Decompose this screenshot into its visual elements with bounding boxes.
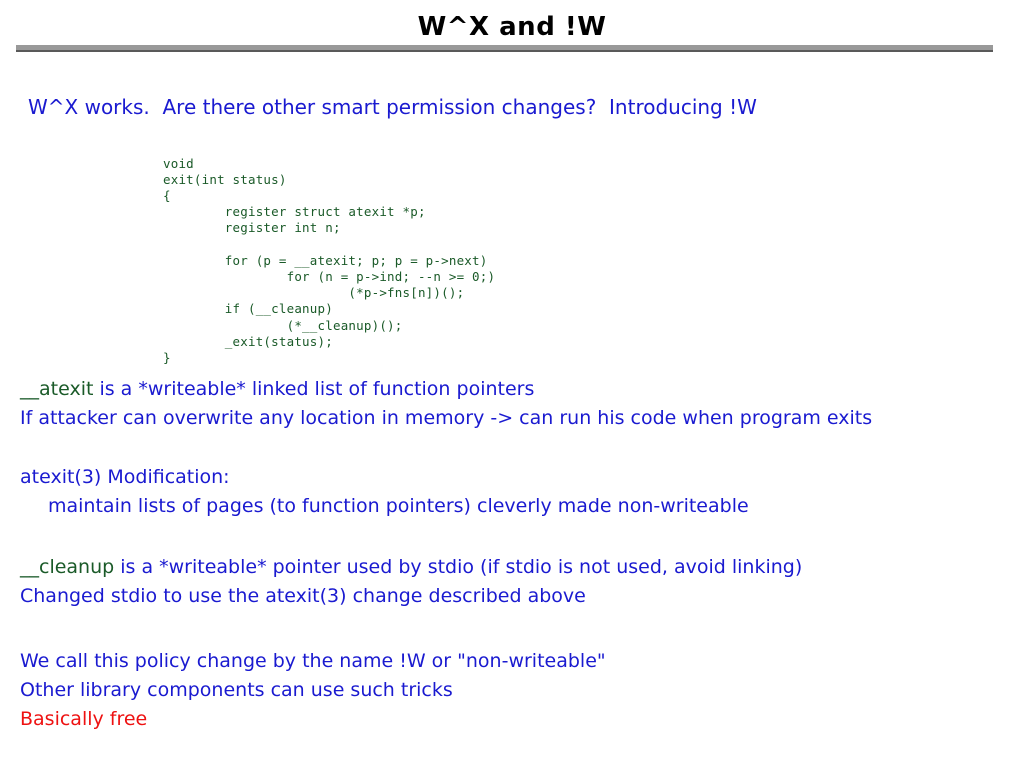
changed-stdio-line-segment-0: Changed stdio to use the atexit(3) chang… bbox=[20, 585, 586, 607]
title-divider-rule bbox=[16, 45, 993, 52]
cleanup-line: __cleanup is a *writeable* pointer used … bbox=[20, 556, 802, 579]
policy-name-line: We call this policy change by the name !… bbox=[20, 650, 606, 673]
policy-name-line-segment-0: We call this policy change by the name !… bbox=[20, 650, 606, 672]
atexit-modification-detail-segment-0: maintain lists of pages (to function poi… bbox=[48, 495, 749, 517]
atexit-line-segment-0: __atexit bbox=[20, 378, 93, 400]
basically-free-line-segment-0: Basically free bbox=[20, 708, 147, 730]
other-libraries-line-segment-0: Other library components can use such tr… bbox=[20, 679, 453, 701]
cleanup-line-segment-0: __cleanup bbox=[20, 556, 114, 578]
attacker-line: If attacker can overwrite any location i… bbox=[20, 407, 872, 430]
cleanup-line-segment-1: is a *writeable* pointer used by stdio (… bbox=[114, 556, 802, 578]
intro-headline: W^X works. Are there other smart permiss… bbox=[28, 95, 757, 119]
atexit-modification-heading-segment-0: atexit(3) Modification: bbox=[20, 466, 230, 488]
atexit-line: __atexit is a *writeable* linked list of… bbox=[20, 378, 534, 401]
exit-source-code-block: void exit(int status) { register struct … bbox=[163, 156, 495, 367]
other-libraries-line: Other library components can use such tr… bbox=[20, 679, 453, 702]
attacker-line-segment-0: If attacker can overwrite any location i… bbox=[20, 407, 872, 429]
basically-free-line: Basically free bbox=[20, 708, 147, 731]
changed-stdio-line: Changed stdio to use the atexit(3) chang… bbox=[20, 585, 586, 608]
slide-title: W^X and !W bbox=[0, 12, 1024, 42]
atexit-modification-detail: maintain lists of pages (to function poi… bbox=[48, 495, 749, 518]
atexit-line-segment-1: is a *writeable* linked list of function… bbox=[93, 378, 534, 400]
atexit-modification-heading: atexit(3) Modification: bbox=[20, 466, 230, 489]
